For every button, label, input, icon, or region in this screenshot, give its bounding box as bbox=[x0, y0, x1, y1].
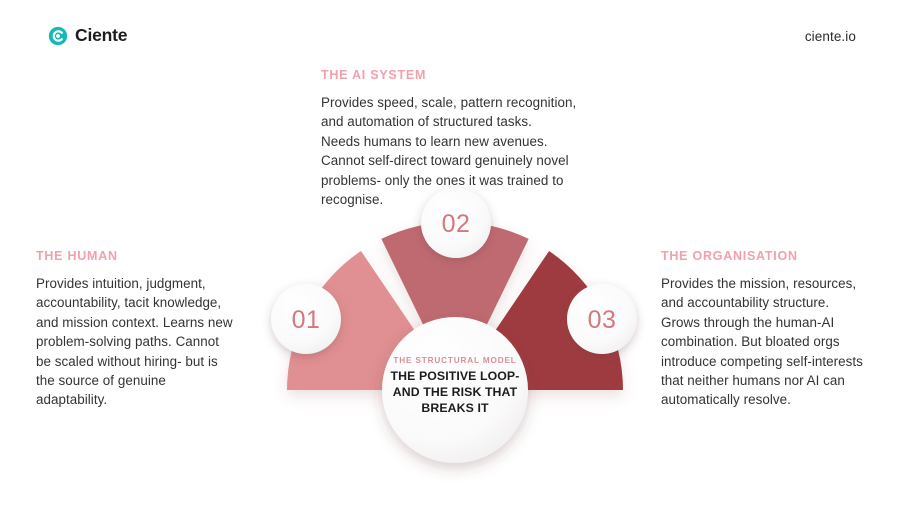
site-url[interactable]: ciente.io bbox=[805, 29, 856, 44]
brand-logo[interactable]: Ciente bbox=[48, 26, 127, 46]
badge-03[interactable]: 03 bbox=[567, 284, 637, 354]
badge-03-number: 03 bbox=[588, 306, 617, 334]
text-block-human: THE HUMAN Provides intuition, judgment, … bbox=[36, 249, 260, 410]
hub-title-line-2: AND THE RISK THAT bbox=[393, 385, 518, 399]
badge-01-number: 01 bbox=[292, 306, 321, 334]
brand-name: Ciente bbox=[75, 27, 127, 45]
block-title-organisation: THE ORGANISATION bbox=[661, 249, 886, 263]
block-body-organisation: Provides the mission, resources, and acc… bbox=[661, 274, 886, 410]
badge-01[interactable]: 01 bbox=[271, 284, 341, 354]
hub-title-line-3: BREAKS IT bbox=[421, 401, 489, 415]
badge-02[interactable]: 02 bbox=[421, 188, 491, 258]
ciente-circle-c-icon bbox=[48, 26, 68, 46]
text-block-organisation: THE ORGANISATION Provides the mission, r… bbox=[661, 249, 886, 410]
block-title-human: THE HUMAN bbox=[36, 249, 260, 263]
semicircle-diagram: THE STRUCTURAL MODEL THE POSITIVE LOOP- … bbox=[245, 185, 665, 485]
block-body-human: Provides intuition, judgment, accountabi… bbox=[36, 274, 260, 410]
block-title-ai-system: THE AI SYSTEM bbox=[321, 68, 611, 82]
hub-title-line-1: THE POSITIVE LOOP- bbox=[391, 369, 520, 383]
infographic-page: Ciente ciente.io THE HUMAN Provides intu… bbox=[0, 0, 902, 521]
hub-eyebrow: THE STRUCTURAL MODEL bbox=[393, 356, 516, 365]
badge-02-number: 02 bbox=[442, 210, 471, 238]
